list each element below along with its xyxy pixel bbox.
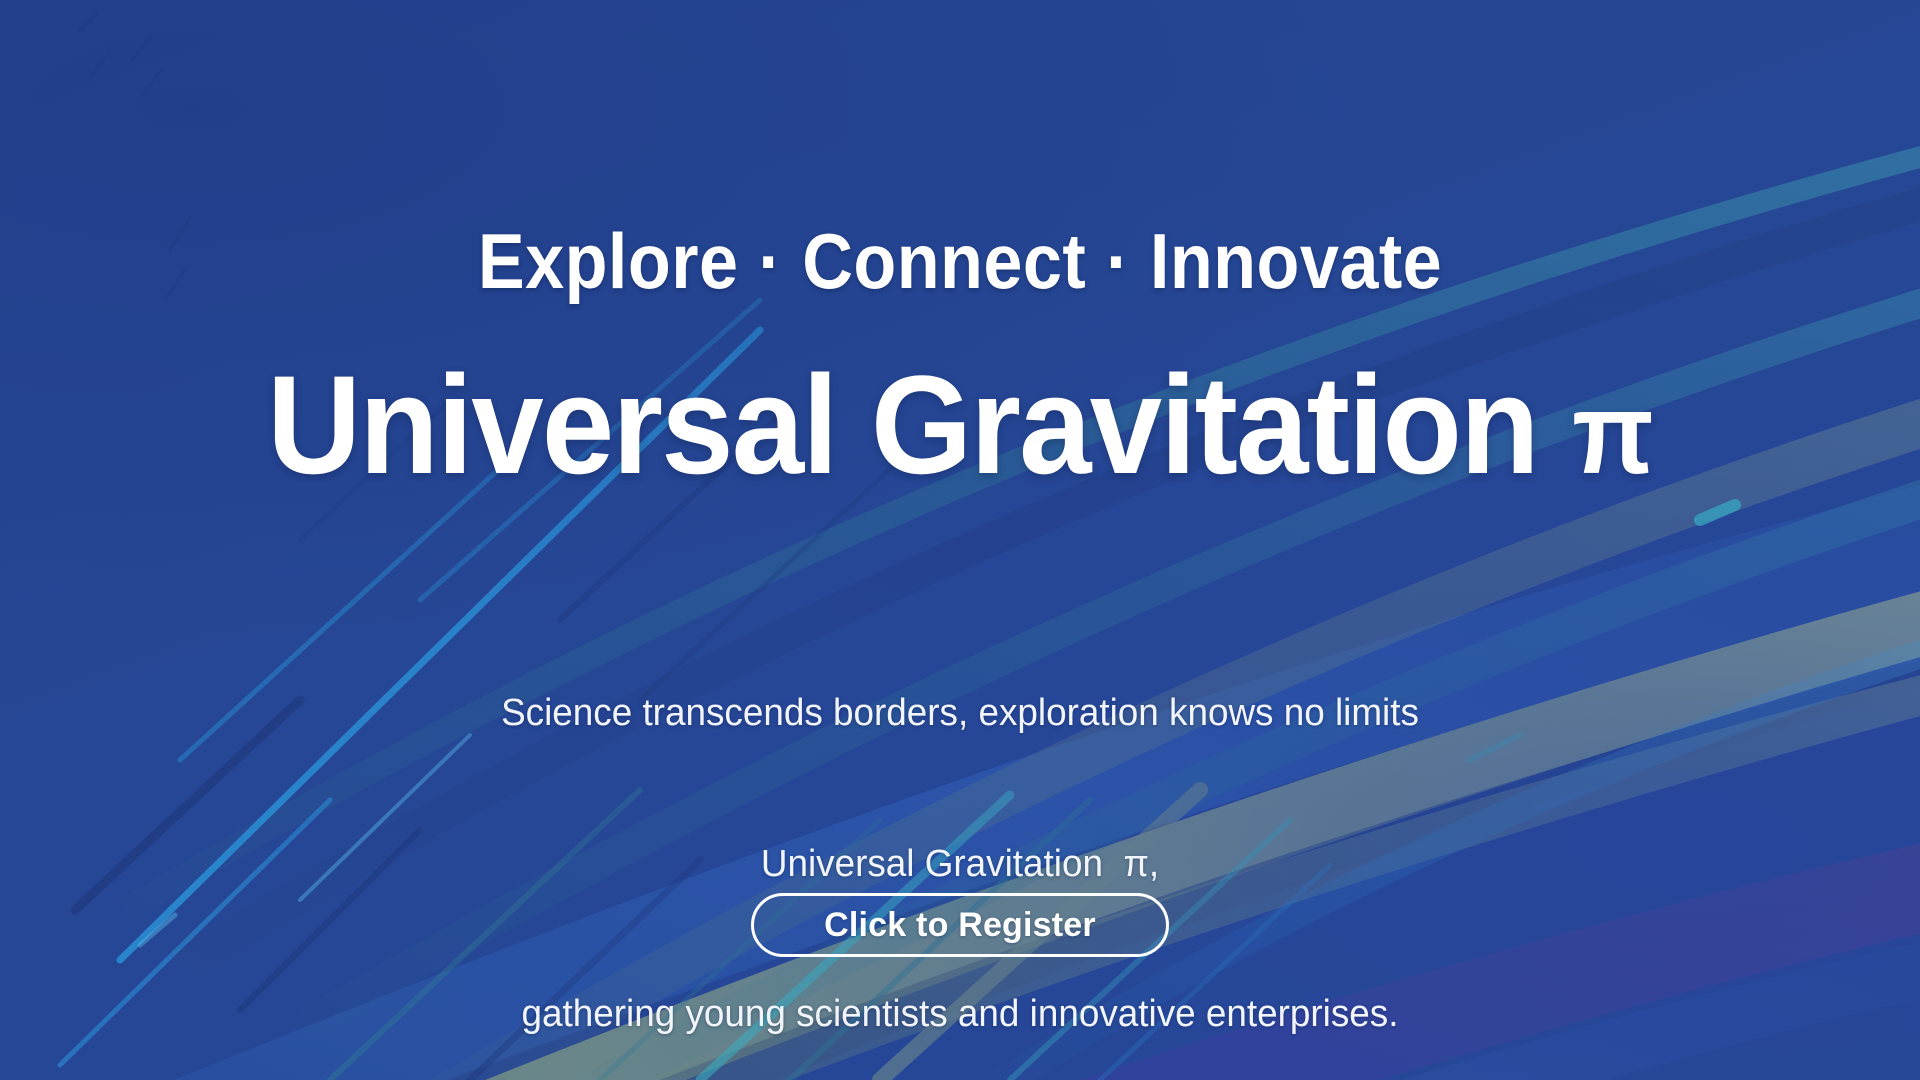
hero-title-pi-symbol: π	[1572, 370, 1653, 498]
hero-title: Universal Gravitation π	[67, 355, 1853, 495]
hero-tagline: Explore · Connect · Innovate	[96, 222, 1824, 300]
hero-subtitle-line-2: Universal Gravitation π,	[29, 839, 1891, 889]
hero-subtitle-line-3: gathering young scientists and innovativ…	[29, 989, 1891, 1039]
hero-subtitle: Science transcends borders, exploration …	[29, 588, 1891, 1080]
hero-subtitle-line-1: Science transcends borders, exploration …	[29, 688, 1891, 738]
cta-container: Click to Register	[0, 893, 1920, 957]
hero-title-text: Universal Gravitation	[267, 346, 1538, 503]
click-to-register-button[interactable]: Click to Register	[751, 893, 1169, 957]
hero-banner: Explore · Connect · Innovate Universal G…	[0, 0, 1920, 1080]
hero-content: Explore · Connect · Innovate Universal G…	[0, 0, 1920, 1080]
